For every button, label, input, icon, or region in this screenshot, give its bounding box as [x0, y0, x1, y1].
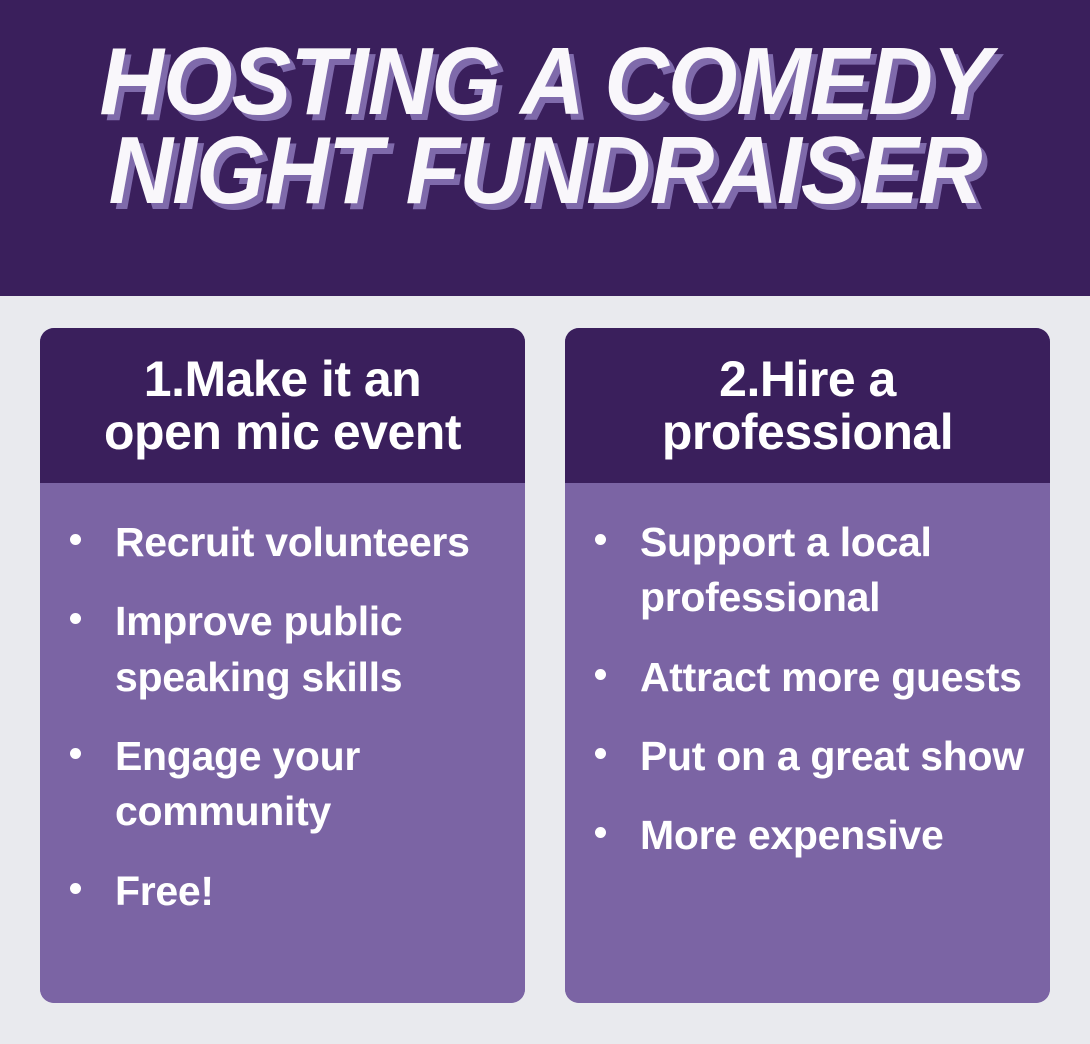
- card-2-header: 2.Hire a professional: [565, 328, 1050, 483]
- bullet-dot-icon: [70, 534, 81, 545]
- bullet-dot-icon: [70, 613, 81, 624]
- bullet-dot-icon: [595, 534, 606, 545]
- list-item: Put on a great show: [595, 729, 1026, 784]
- card-1: 1.Make it an open mic event Recruit volu…: [40, 328, 525, 1003]
- list-item: Attract more guests: [595, 650, 1026, 705]
- bullet-dot-icon: [595, 748, 606, 759]
- bullet-text: Attract more guests: [640, 650, 1022, 705]
- infographic-poster: HOSTING A COMEDY NIGHT FUNDRAISER 1.Make…: [0, 0, 1090, 1044]
- card-1-body: Recruit volunteers Improve public speaki…: [40, 483, 525, 1003]
- card-1-bullet-list: Recruit volunteers Improve public speaki…: [70, 515, 501, 919]
- title-line-1: HOSTING A COMEDY: [99, 37, 990, 126]
- list-item: Recruit volunteers: [70, 515, 501, 570]
- card-1-header: 1.Make it an open mic event: [40, 328, 525, 483]
- bullet-text: Support a local professional: [640, 515, 1026, 626]
- list-item: Free!: [70, 864, 501, 919]
- bullet-text: Free!: [115, 864, 214, 919]
- card-2: 2.Hire a professional Support a local pr…: [565, 328, 1050, 1003]
- list-item: Improve public speaking skills: [70, 594, 501, 705]
- page-title: HOSTING A COMEDY NIGHT FUNDRAISER: [99, 37, 990, 216]
- bullet-text: Put on a great show: [640, 729, 1024, 784]
- card-2-body: Support a local professional Attract mor…: [565, 483, 1050, 1003]
- card-2-bullet-list: Support a local professional Attract mor…: [595, 515, 1026, 864]
- bullet-dot-icon: [595, 827, 606, 838]
- bullet-text: Engage your community: [115, 729, 501, 840]
- card-1-title: 1.Make it an open mic event: [104, 353, 461, 458]
- list-item: More expensive: [595, 808, 1026, 863]
- card-list: 1.Make it an open mic event Recruit volu…: [40, 328, 1050, 1003]
- bullet-text: Recruit volunteers: [115, 515, 470, 570]
- bullet-text: Improve public speaking skills: [115, 594, 501, 705]
- bullet-dot-icon: [595, 669, 606, 680]
- bullet-dot-icon: [70, 883, 81, 894]
- list-item: Support a local professional: [595, 515, 1026, 626]
- poster-header-band: HOSTING A COMEDY NIGHT FUNDRAISER: [0, 0, 1090, 296]
- list-item: Engage your community: [70, 729, 501, 840]
- bullet-text: More expensive: [640, 808, 943, 863]
- bullet-dot-icon: [70, 748, 81, 759]
- title-line-2: NIGHT FUNDRAISER: [99, 126, 990, 215]
- card-2-title: 2.Hire a professional: [662, 353, 953, 458]
